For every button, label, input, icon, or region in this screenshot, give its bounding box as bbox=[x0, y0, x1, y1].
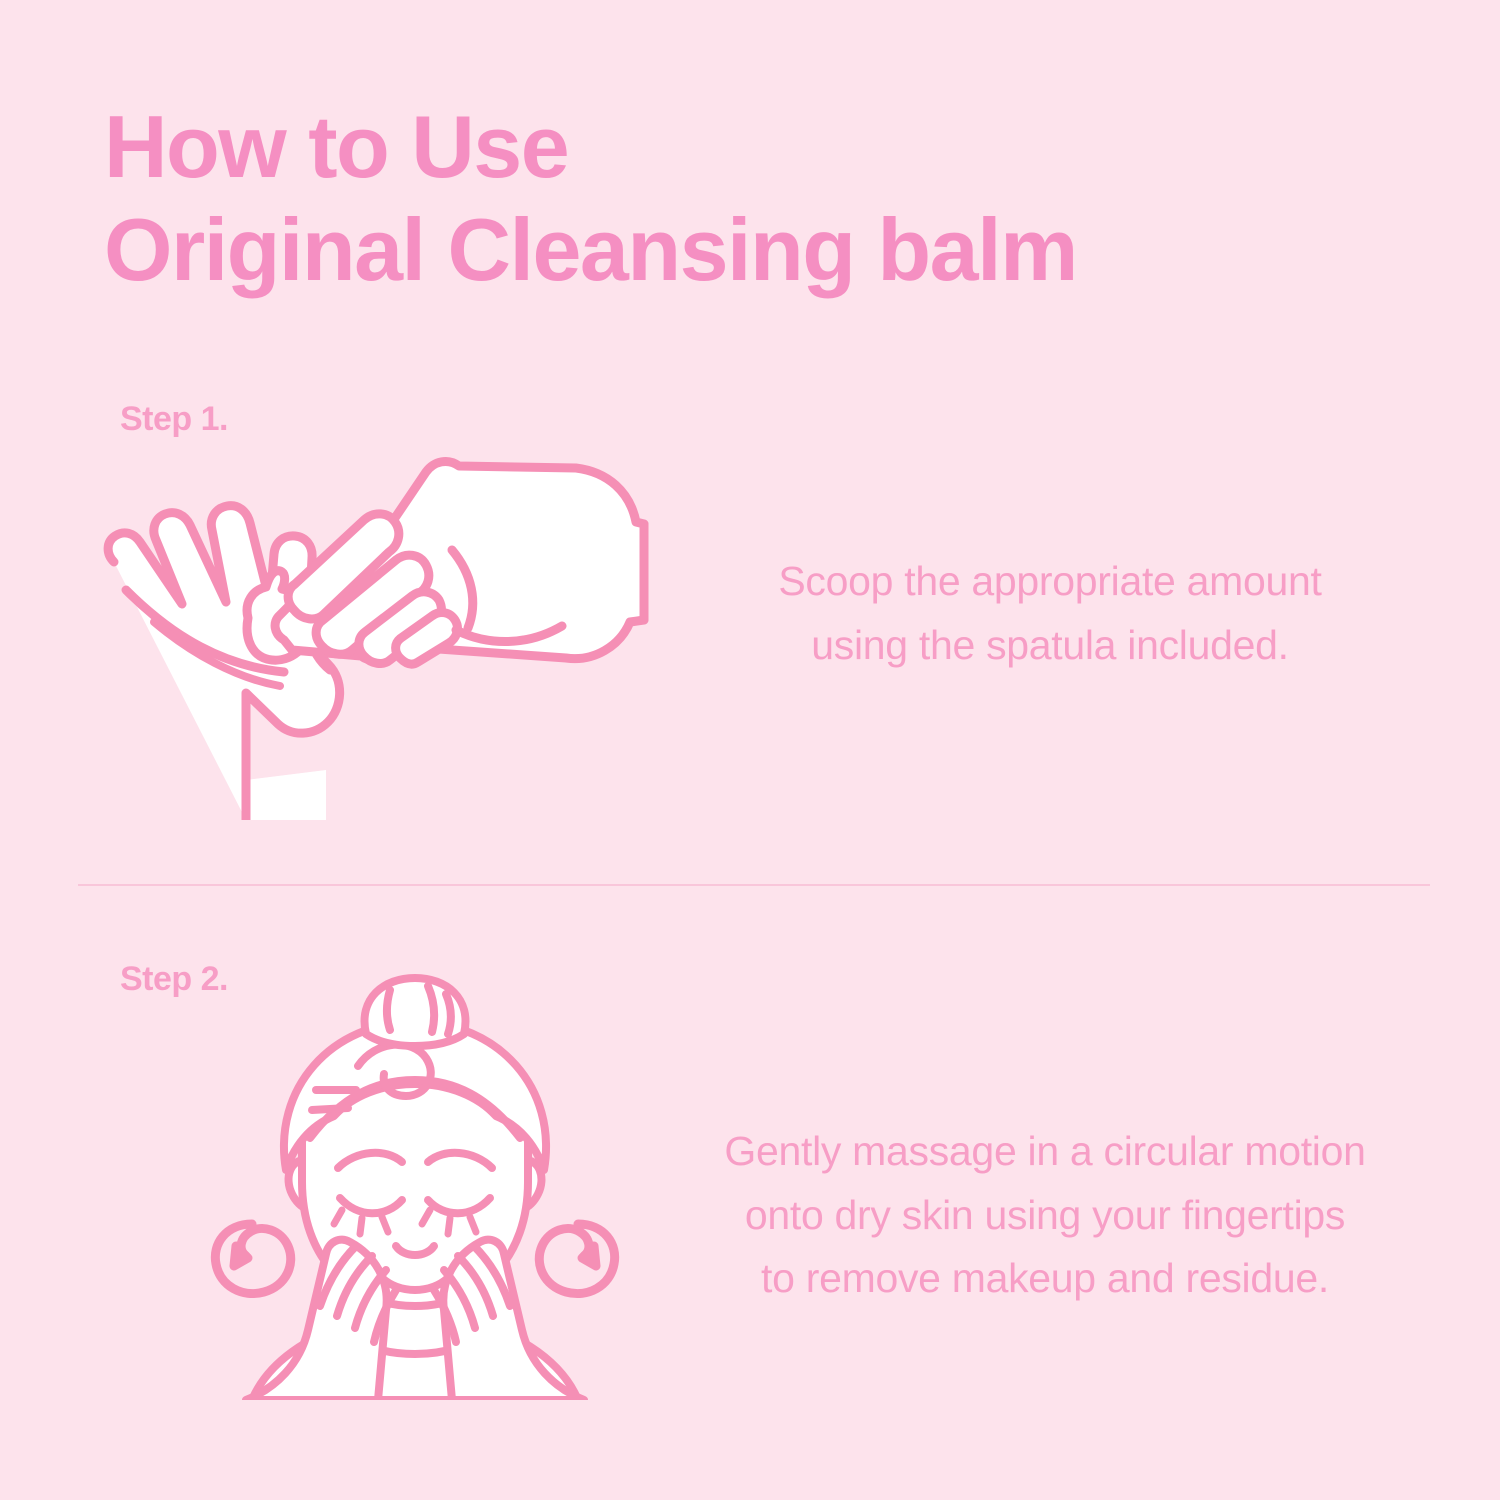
step-1-section: Step 1. bbox=[0, 400, 1500, 840]
step-2-text-line-3: to remove makeup and residue. bbox=[660, 1247, 1430, 1311]
step-1-text-line-1: Scoop the appropriate amount bbox=[690, 550, 1410, 614]
step-2-section: Step 2. bbox=[0, 960, 1500, 1420]
step-2-description: Gently massage in a circular motion onto… bbox=[660, 1120, 1430, 1311]
step-2-text-line-2: onto dry skin using your fingertips bbox=[660, 1184, 1430, 1248]
section-divider bbox=[78, 884, 1430, 886]
woman-massaging-face-icon bbox=[190, 970, 640, 1400]
step-1-description: Scoop the appropriate amount using the s… bbox=[690, 550, 1410, 677]
title-line-2: Original Cleansing balm bbox=[104, 199, 1304, 302]
step-1-text-line-2: using the spatula included. bbox=[690, 614, 1410, 678]
title-line-1: How to Use bbox=[104, 96, 1304, 199]
step-2-text-line-1: Gently massage in a circular motion bbox=[660, 1120, 1430, 1184]
step-1-label: Step 1. bbox=[120, 400, 228, 439]
how-to-use-infographic: How to Use Original Cleansing balm Step … bbox=[0, 0, 1500, 1500]
hand-scooping-balm-with-spatula-icon bbox=[96, 450, 656, 820]
page-title: How to Use Original Cleansing balm bbox=[104, 96, 1304, 302]
